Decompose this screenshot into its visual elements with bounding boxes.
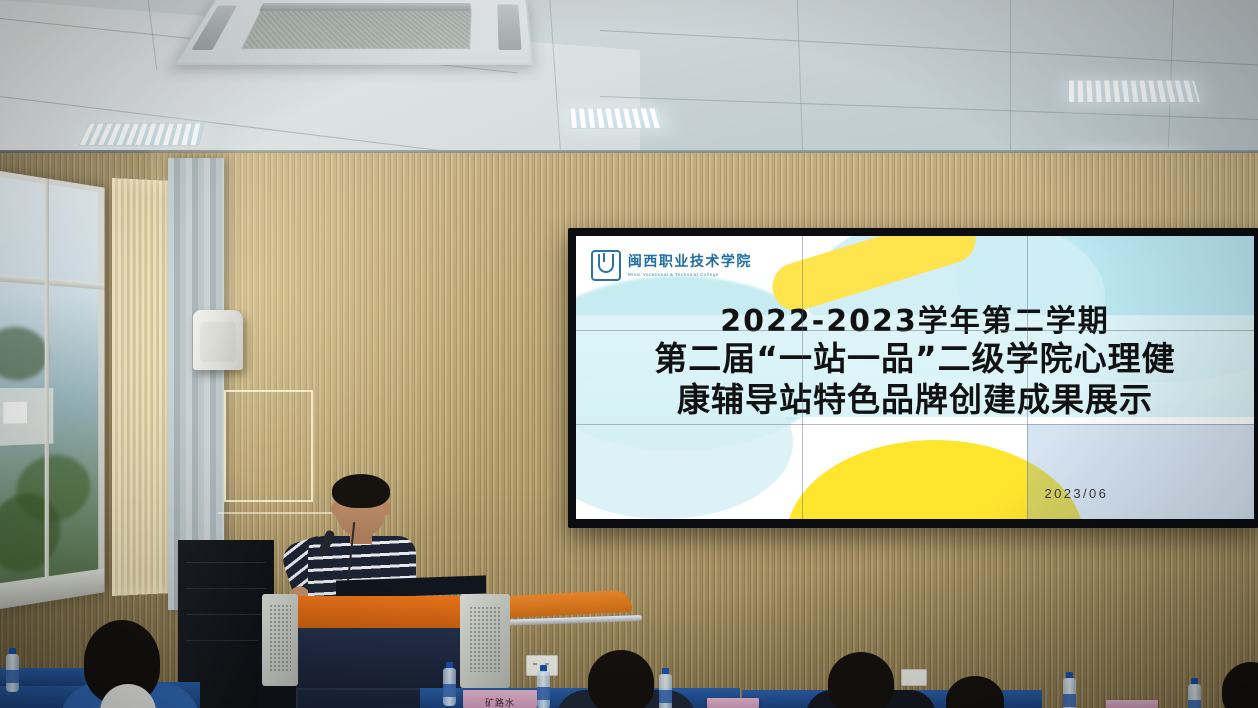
- window-frame: [0, 170, 105, 610]
- lectern-left-pillar: [262, 594, 298, 686]
- slide-title-line-1: 2022-2023学年第二学期: [576, 304, 1254, 339]
- video-wall-seam: [1027, 236, 1028, 519]
- presenter-ear: [331, 502, 339, 515]
- slide-title-line-3: 康辅导站特色品牌创建成果展示: [576, 380, 1254, 420]
- speaker-grille-icon: [200, 322, 236, 362]
- water-bottle: [659, 668, 672, 708]
- video-wall-seam: [576, 330, 1254, 331]
- audience-member-head: [588, 650, 654, 708]
- presenter-ear: [383, 502, 391, 515]
- name-placard: [1106, 700, 1158, 708]
- presenter-hair: [332, 474, 390, 508]
- water-bottle: [6, 648, 19, 692]
- name-placard: 矿路水: [463, 690, 537, 708]
- ac-grille: [241, 8, 472, 49]
- presentation-photo-scene: 闽西职业技术学院 Minxi Vocational & Technical Co…: [0, 0, 1258, 708]
- water-bottle: [537, 665, 550, 708]
- logo-institution-name-cn: 闽西职业技术学院: [628, 255, 752, 269]
- video-wall-panel-tint: [1027, 424, 1254, 519]
- lectern-orange-panel: [296, 596, 468, 628]
- slide-date: 2023/06: [1044, 486, 1108, 501]
- video-wall-seam: [802, 236, 803, 519]
- ceiling-light-panel: [1068, 80, 1201, 103]
- window-glass: [0, 177, 98, 584]
- ceiling-ac-unit: [174, 0, 534, 65]
- logo-institution-name-en: Minxi Vocational & Technical College: [628, 272, 752, 277]
- water-bottle: [443, 662, 456, 706]
- wall-power-outlet[interactable]: [901, 669, 927, 686]
- window-mullion: [45, 178, 49, 602]
- water-bottle: [1063, 672, 1076, 708]
- name-placard-text: 矿路水: [463, 696, 537, 708]
- audience-member-head: [828, 652, 894, 708]
- window-vertical-blinds: [112, 178, 173, 596]
- video-wall-seam: [576, 424, 1254, 425]
- water-bottle: [1188, 678, 1201, 708]
- video-wall-screen: 闽西职业技术学院 Minxi Vocational & Technical Co…: [576, 236, 1254, 519]
- ceiling-light-panel: [569, 108, 665, 129]
- university-logo-icon: [591, 250, 621, 281]
- slide-title-line-2: 第二届“一站一品”二级学院心理健: [576, 339, 1254, 379]
- slide-title-block: 2022-2023学年第二学期 第二届“一站一品”二级学院心理健 康辅导站特色品…: [576, 304, 1254, 420]
- lectern-right-pillar: [460, 594, 510, 688]
- slide-logo: 闽西职业技术学院 Minxi Vocational & Technical Co…: [591, 250, 752, 281]
- name-placard: [707, 698, 759, 708]
- ceiling-light-panel: [78, 123, 204, 146]
- left-window: [0, 170, 122, 610]
- video-wall[interactable]: 闽西职业技术学院 Minxi Vocational & Technical Co…: [568, 228, 1258, 528]
- wall-speaker: [193, 310, 243, 370]
